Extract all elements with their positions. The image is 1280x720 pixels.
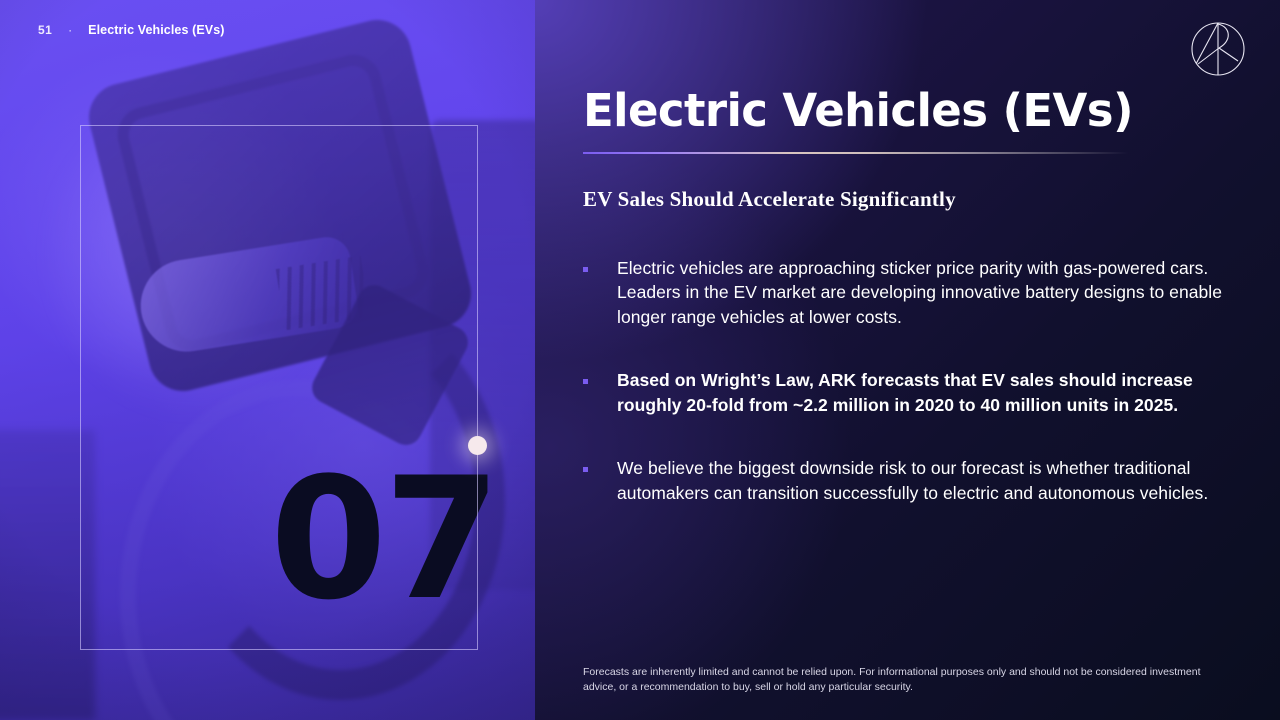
frame-glow-dot [468,436,487,455]
list-item: We believe the biggest downside risk to … [583,456,1255,506]
bullet-marker-icon [583,379,588,384]
bullet-marker-icon [583,267,588,272]
page-subtitle: EV Sales Should Accelerate Significantly [583,187,1280,212]
right-panel: Electric Vehicles (EVs) EV Sales Should … [535,0,1280,720]
page-number: 51 [38,23,52,37]
bullet-text: Based on Wright’s Law, ARK forecasts tha… [617,368,1255,418]
bullet-text: Electric vehicles are approaching sticke… [617,256,1255,331]
decorative-frame [80,125,478,650]
bullet-list: Electric vehicles are approaching sticke… [583,256,1255,506]
disclaimer-text: Forecasts are inherently limited and can… [583,665,1223,697]
bullet-marker-icon [583,467,588,472]
slide: 51 · Electric Vehicles (EVs) 07 Electric… [0,0,1280,720]
list-item: Based on Wright’s Law, ARK forecasts tha… [583,368,1255,418]
list-item: Electric vehicles are approaching sticke… [583,256,1255,331]
slide-content: Electric Vehicles (EVs) EV Sales Should … [583,0,1280,505]
header-separator-dot: · [68,23,72,37]
title-underline [583,152,1128,154]
header-section-title: Electric Vehicles (EVs) [88,23,224,37]
left-panel: 51 · Electric Vehicles (EVs) 07 [0,0,535,720]
slide-header: 51 · Electric Vehicles (EVs) [0,0,535,60]
bullet-text: We believe the biggest downside risk to … [617,456,1255,506]
page-title: Electric Vehicles (EVs) [583,86,1280,136]
